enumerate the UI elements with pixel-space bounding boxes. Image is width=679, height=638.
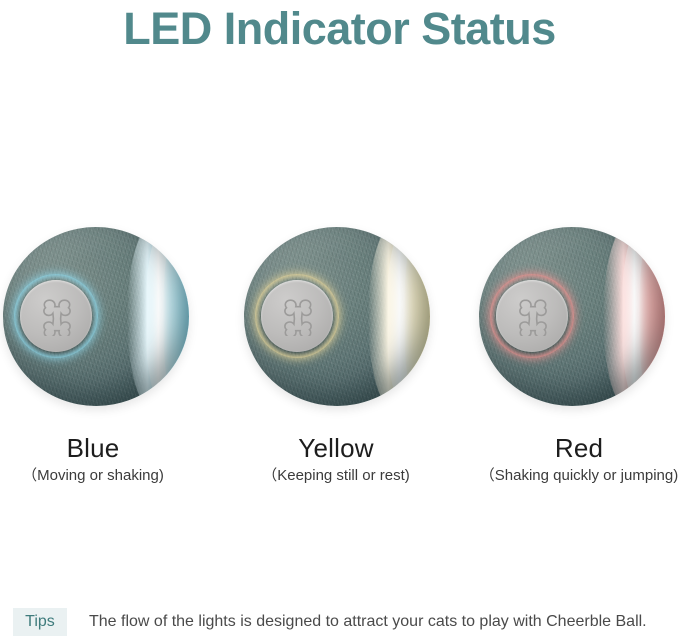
tips-badge: Tips xyxy=(13,608,67,636)
tips-section: Tips The flow of the lights is designed … xyxy=(0,606,679,638)
indicator-item-red xyxy=(479,227,666,407)
indicator-name: Red xyxy=(459,432,679,464)
ball-power-button[interactable] xyxy=(496,280,568,352)
cheerble-ball-blue xyxy=(3,227,189,406)
indicator-label-yellow: Yellow （Keeping still or rest) xyxy=(216,432,456,487)
indicator-name: Blue xyxy=(0,432,213,464)
cheerble-ball-red xyxy=(479,227,665,406)
page-title: LED Indicator Status xyxy=(0,0,679,58)
led-indicator-gallery xyxy=(0,227,679,409)
indicator-item-blue xyxy=(3,227,190,407)
ball-power-button[interactable] xyxy=(261,280,333,352)
bone-icon xyxy=(39,296,73,336)
indicator-description: （Moving or shaking) xyxy=(0,465,213,487)
ball-power-button[interactable] xyxy=(20,280,92,352)
cheerble-ball-yellow xyxy=(244,227,430,406)
indicator-labels: Blue （Moving or shaking) Yellow （Keeping… xyxy=(0,432,679,492)
indicator-description: （Shaking quickly or jumping) xyxy=(459,465,679,487)
tips-text: The flow of the lights is designed to at… xyxy=(89,608,647,636)
indicator-description: （Keeping still or rest) xyxy=(216,465,456,487)
bone-icon xyxy=(515,296,549,336)
indicator-name: Yellow xyxy=(216,432,456,464)
indicator-label-blue: Blue （Moving or shaking) xyxy=(0,432,213,487)
indicator-item-yellow xyxy=(244,227,431,407)
indicator-label-red: Red （Shaking quickly or jumping) xyxy=(459,432,679,487)
bone-icon xyxy=(280,296,314,336)
